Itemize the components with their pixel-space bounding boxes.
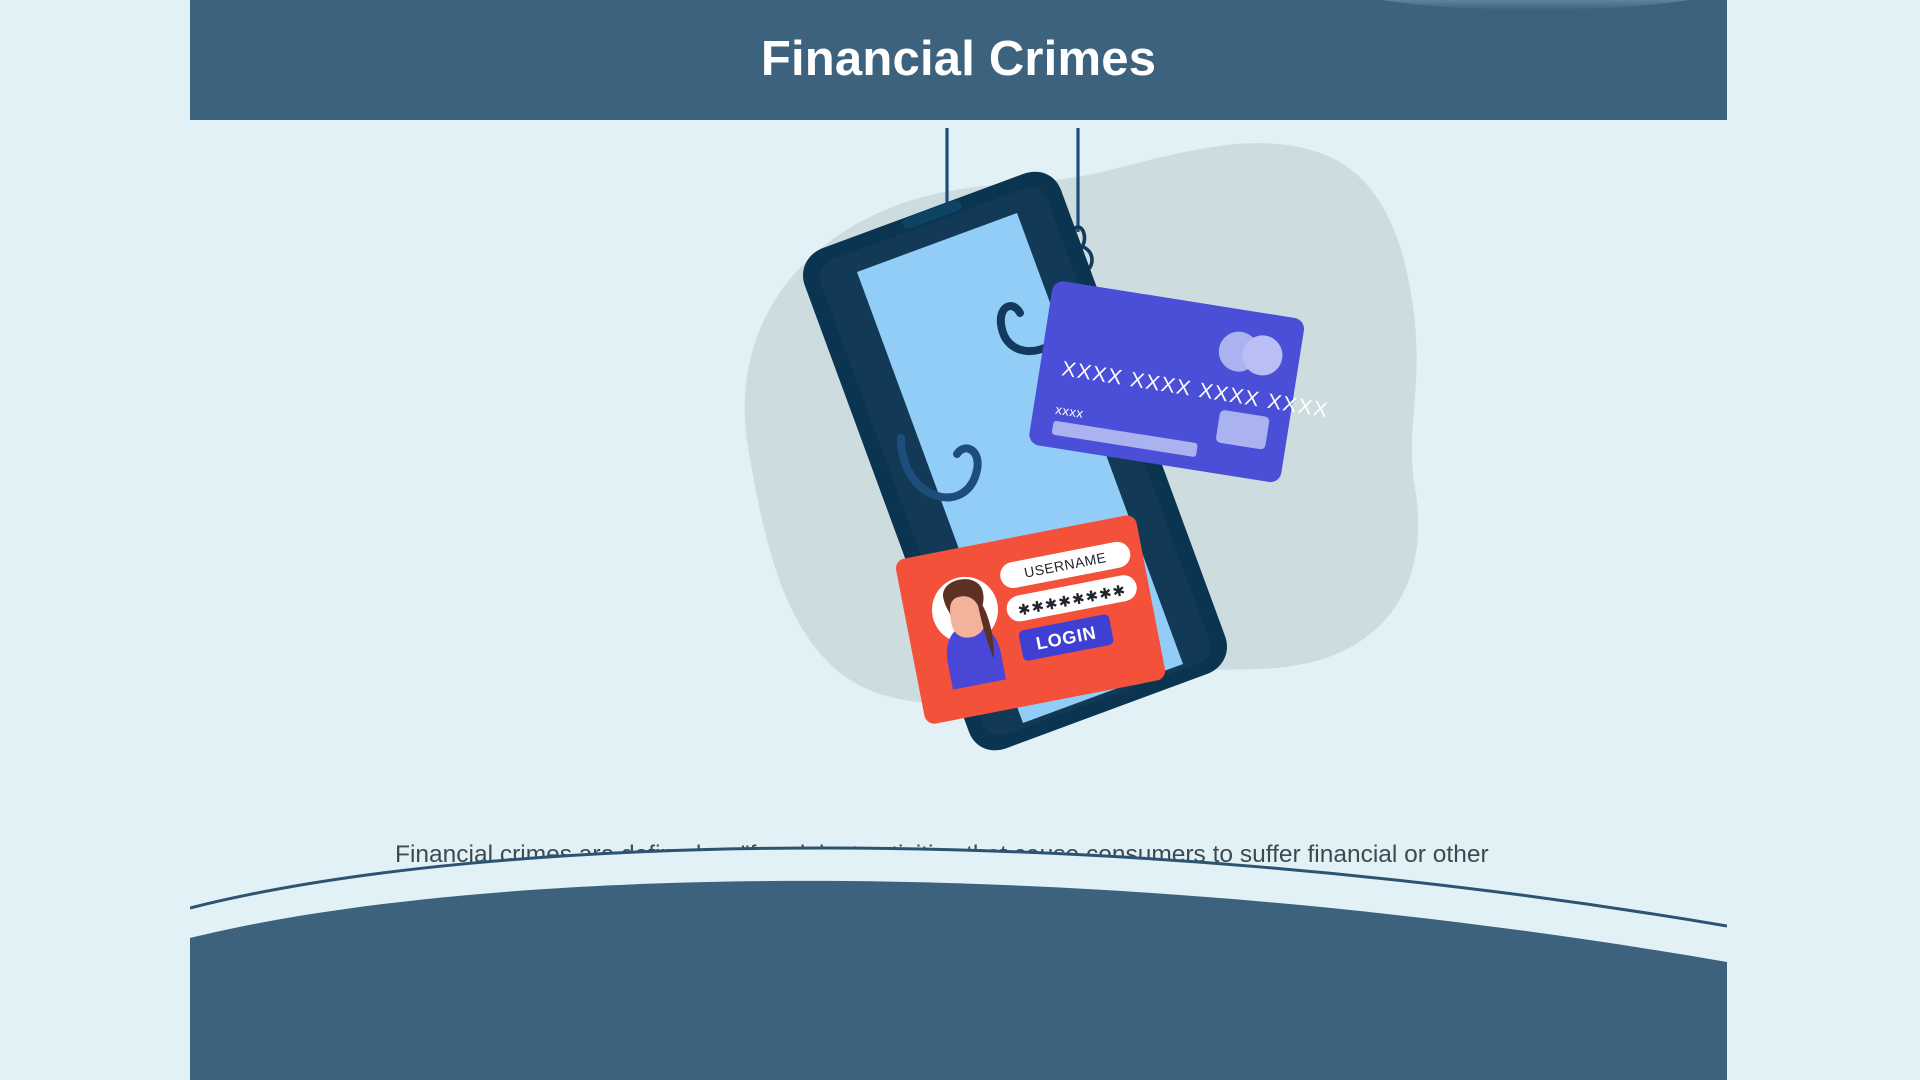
phishing-illustration: XXXX XXXX XXXX XXXX xxxx bbox=[705, 128, 1525, 758]
left-margin bbox=[0, 0, 191, 1080]
right-margin bbox=[1727, 0, 1920, 1080]
content-panel: Financial Crimes bbox=[190, 0, 1727, 1080]
body-paragraph: Financial crimes are defined as "fraudul… bbox=[395, 830, 1535, 980]
header-bar: Financial Crimes bbox=[190, 0, 1727, 120]
slide-root: Financial Crimes bbox=[0, 0, 1920, 1080]
page-title: Financial Crimes bbox=[190, 0, 1727, 120]
